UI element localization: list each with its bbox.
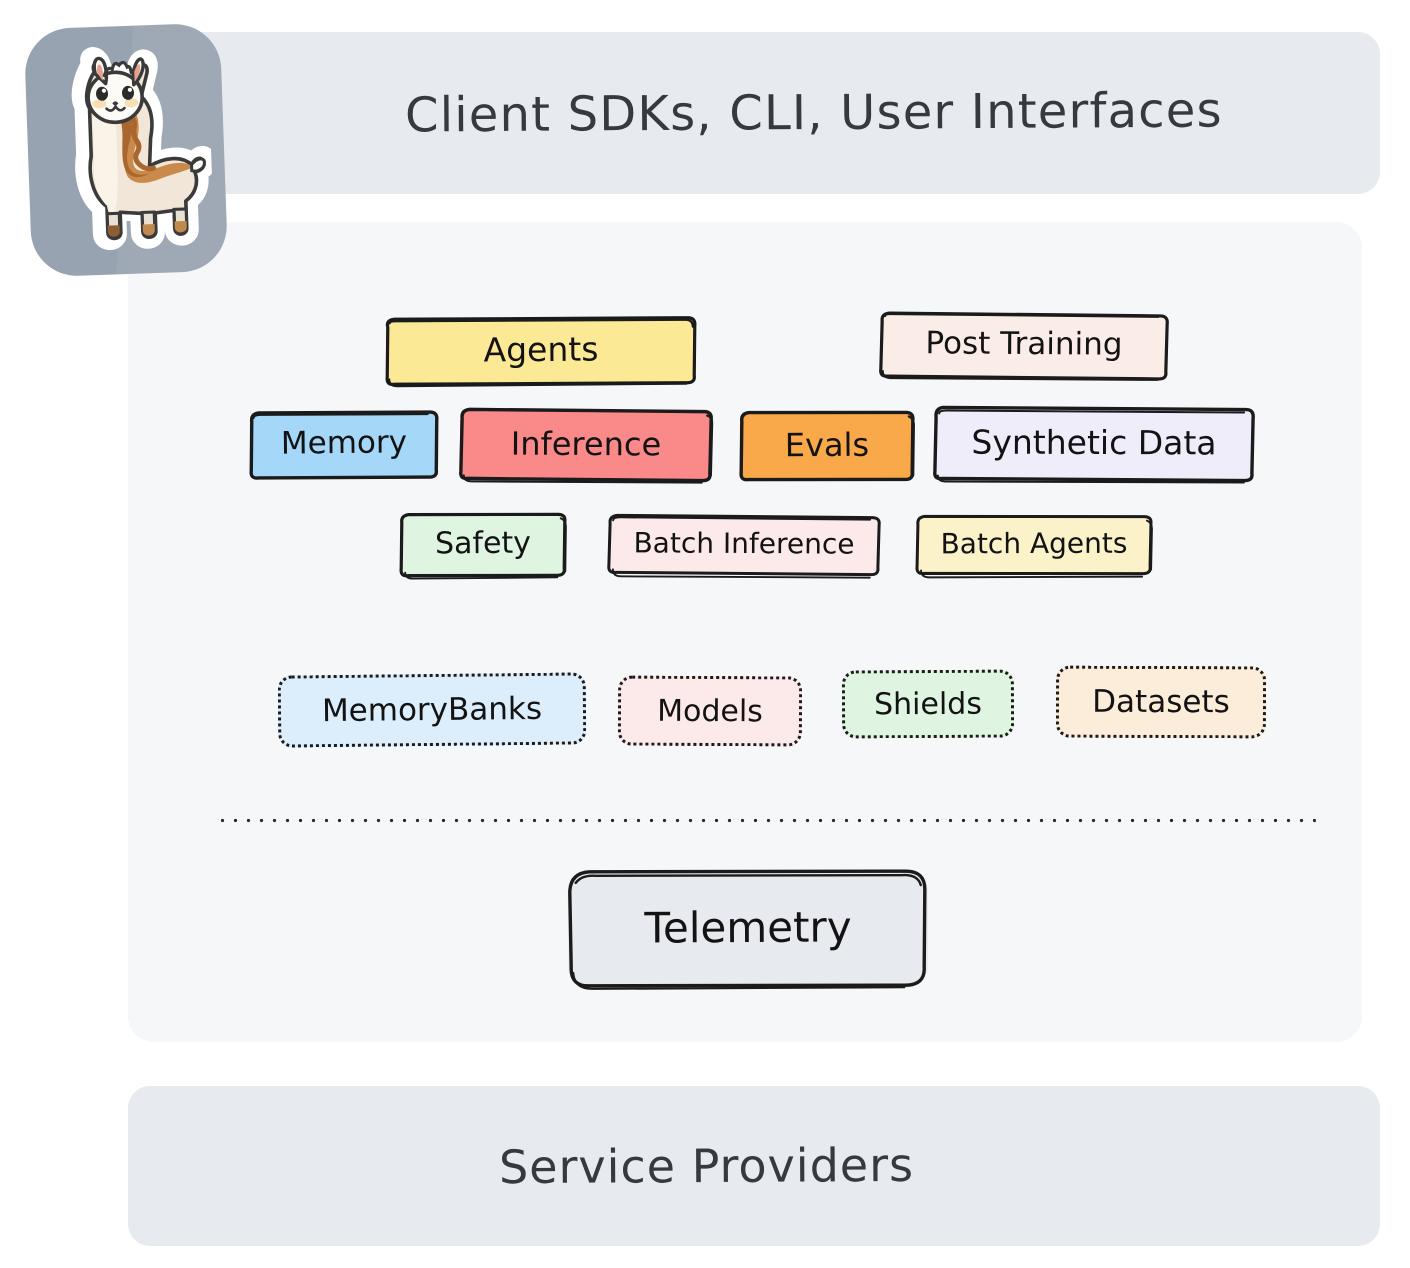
api-box-safety[interactable]: Safety bbox=[400, 513, 567, 576]
api-box-memory[interactable]: Memory bbox=[250, 411, 439, 479]
llama-logo-tile bbox=[24, 23, 229, 278]
resource-box-label: MemoryBanks bbox=[322, 691, 542, 729]
api-box-label: Inference bbox=[511, 427, 662, 463]
resource-box-label: Datasets bbox=[1092, 684, 1230, 720]
api-box-label: Post Training bbox=[925, 328, 1122, 363]
resource-box-memorybanks[interactable]: MemoryBanks bbox=[278, 672, 587, 747]
service-providers-bar: Service Providers bbox=[128, 1086, 1380, 1246]
api-box-label: Safety bbox=[435, 528, 531, 562]
llama-icon bbox=[37, 42, 214, 258]
resource-box-datasets[interactable]: Datasets bbox=[1056, 666, 1266, 739]
footer-title: Service Providers bbox=[498, 1138, 913, 1194]
api-box-batch-inference[interactable]: Batch Inference bbox=[608, 515, 880, 574]
page-title: Client SDKs, CLI, User Interfaces bbox=[405, 83, 1223, 144]
resource-box-label: Shields bbox=[874, 686, 982, 722]
api-box-label: Batch Agents bbox=[941, 529, 1128, 561]
api-box-label: Evals bbox=[785, 428, 870, 464]
api-box-synthetic-data[interactable]: Synthetic Data bbox=[934, 407, 1254, 480]
api-box-post-training[interactable]: Post Training bbox=[880, 313, 1168, 379]
api-box-label: Memory bbox=[281, 427, 407, 462]
resource-box-label: Models bbox=[657, 693, 763, 729]
diagram-canvas: Client SDKs, CLI, User Interfaces bbox=[0, 0, 1410, 1268]
api-box-evals[interactable]: Evals bbox=[740, 411, 914, 480]
api-box-label: Synthetic Data bbox=[971, 426, 1216, 463]
resource-box-models[interactable]: Models bbox=[618, 676, 802, 747]
resource-box-shields[interactable]: Shields bbox=[842, 670, 1014, 739]
telemetry-label: Telemetry bbox=[644, 906, 851, 952]
api-box-label: Agents bbox=[483, 332, 598, 369]
api-box-label: Batch Inference bbox=[633, 529, 854, 561]
api-box-agents[interactable]: Agents bbox=[386, 317, 697, 386]
api-box-batch-agents[interactable]: Batch Agents bbox=[916, 516, 1152, 575]
section-divider bbox=[216, 818, 1316, 823]
api-box-inference[interactable]: Inference bbox=[460, 409, 712, 480]
client-layer-bar: Client SDKs, CLI, User Interfaces bbox=[128, 32, 1380, 194]
telemetry-box[interactable]: Telemetry bbox=[568, 869, 929, 989]
